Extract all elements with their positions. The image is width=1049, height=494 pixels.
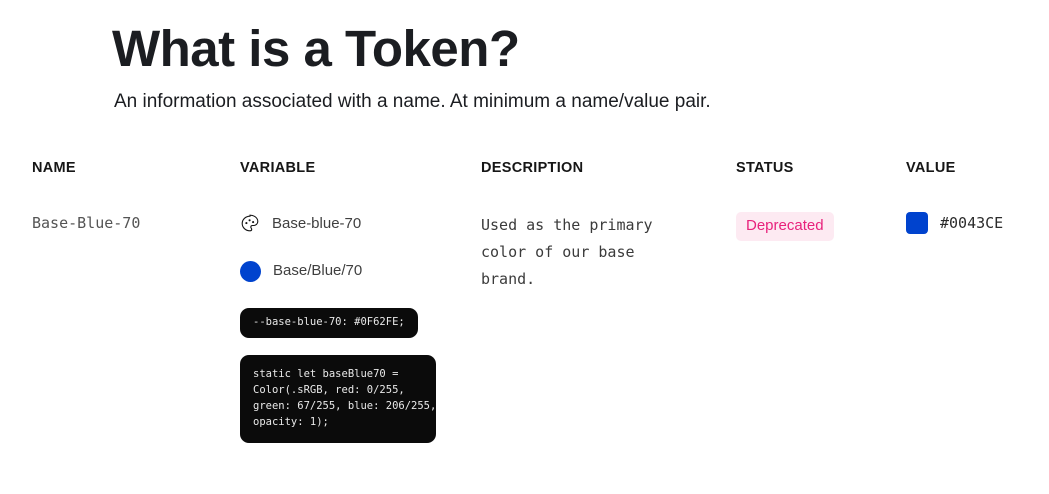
value-wrapper: #0043CE [906, 212, 1046, 234]
cell-status: Deprecated [736, 212, 891, 241]
column-header-status: STATUS [736, 160, 891, 176]
list-item[interactable]: Base-blue-70 [240, 212, 465, 236]
table-header-row: NAME VARIABLE DESCRIPTION STATUS VALUE [0, 160, 1049, 190]
code-line: static let baseBlue70 = [253, 366, 423, 382]
css-variable-code-pill[interactable]: --base-blue-70: #0F62FE; [240, 308, 418, 338]
cell-description: Used as the primary color of our base br… [481, 212, 711, 293]
cell-value: #0043CE [906, 212, 1046, 234]
column-header-description: DESCRIPTION [481, 160, 711, 176]
cell-variable: Base-blue-70 Base/Blue/70 --base-blue-70… [240, 212, 465, 443]
status-badge: Deprecated [736, 212, 834, 241]
variable-label: Base/Blue/70 [273, 261, 362, 281]
page-header: What is a Token? An information associat… [112, 18, 1012, 116]
code-line: opacity: 1); [253, 414, 423, 430]
variable-label: Base-blue-70 [272, 214, 361, 234]
token-name: Base-Blue-70 [32, 212, 227, 234]
color-circle-swatch-icon [240, 261, 261, 282]
code-line: Color(.sRGB, red: 0/255, [253, 382, 423, 398]
list-item[interactable]: Base/Blue/70 [240, 259, 465, 283]
palette-icon [240, 214, 260, 234]
page-subtitle: An information associated with a name. A… [114, 88, 1012, 116]
page-title: What is a Token? [112, 18, 1012, 80]
code-line: green: 67/255, blue: 206/255, [253, 398, 423, 414]
color-swatch-icon [906, 212, 928, 234]
column-header-name: NAME [32, 160, 227, 176]
variable-list: Base-blue-70 Base/Blue/70 --base-blue-70… [240, 212, 465, 443]
column-header-value: VALUE [906, 160, 1046, 176]
token-table: NAME VARIABLE DESCRIPTION STATUS VALUE B… [0, 160, 1049, 190]
token-description: Used as the primary color of our base br… [481, 212, 696, 293]
column-header-variable: VARIABLE [240, 160, 465, 176]
swift-code-block[interactable]: static let baseBlue70 = Color(.sRGB, red… [240, 355, 436, 443]
value-hex: #0043CE [940, 212, 1003, 234]
cell-name: Base-Blue-70 [32, 212, 227, 234]
